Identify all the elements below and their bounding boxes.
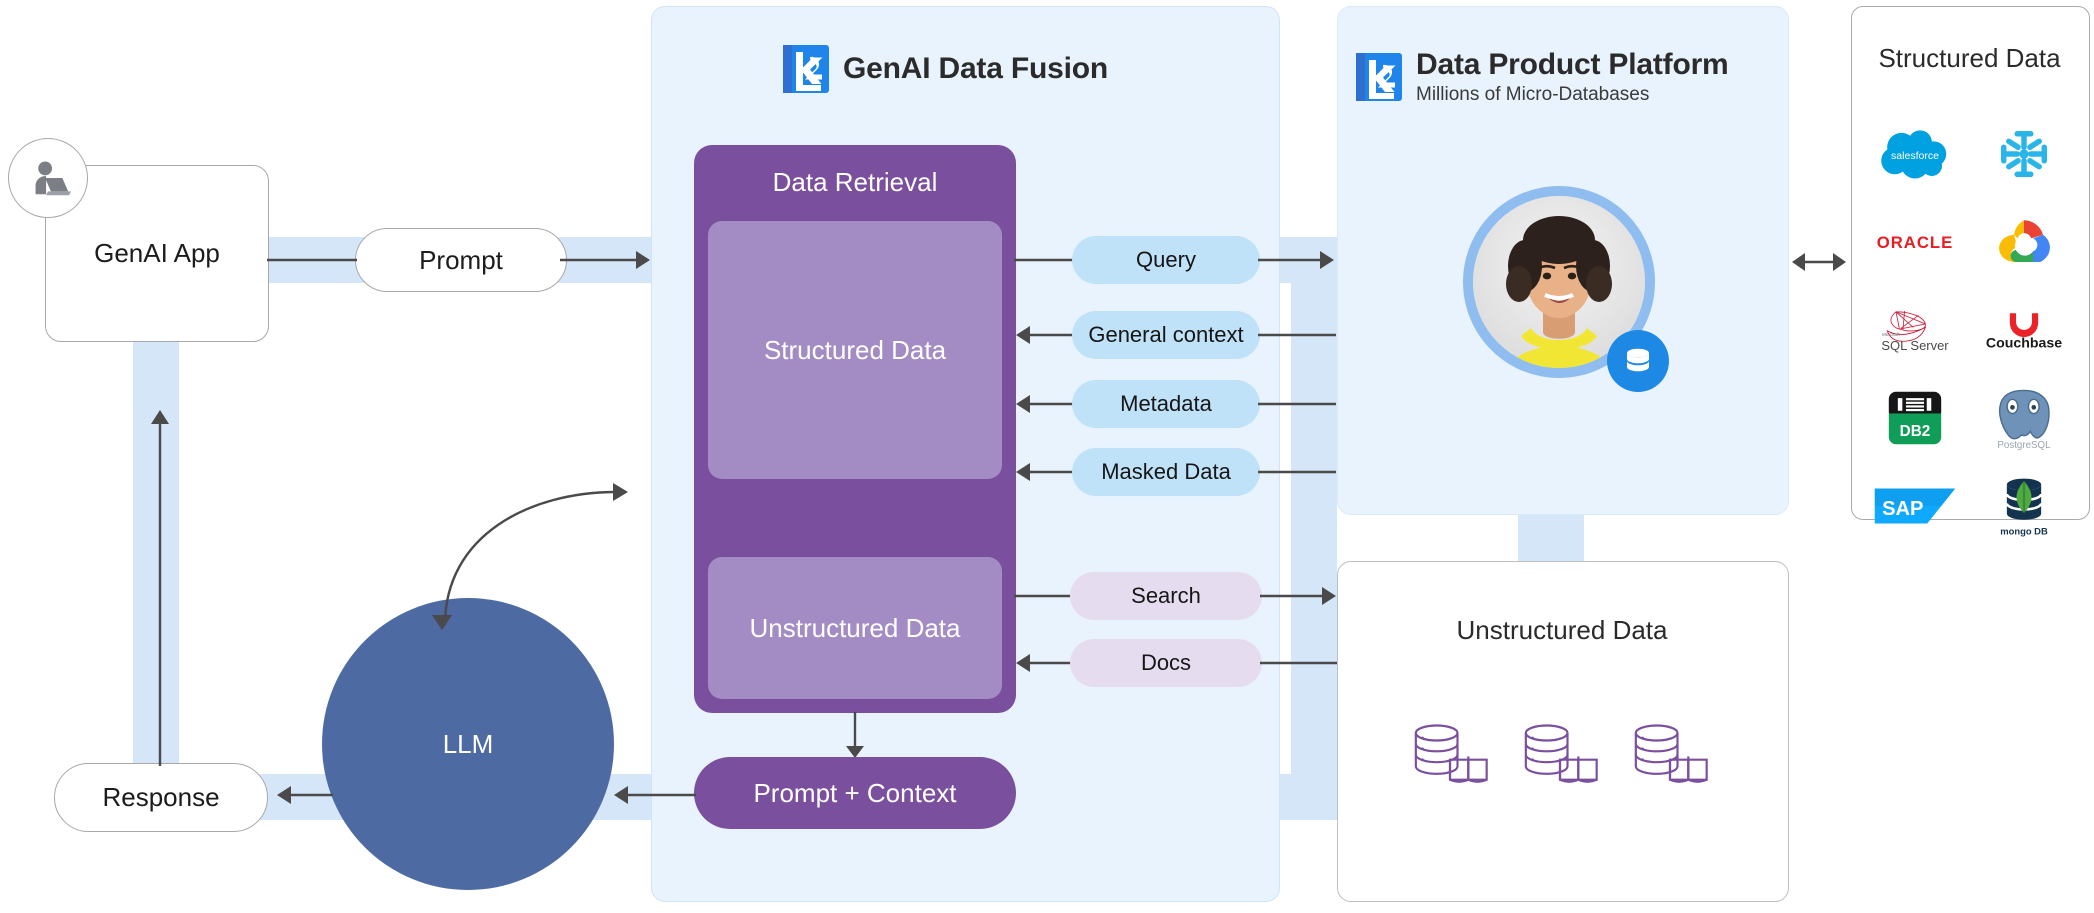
structured-logo-grid: salesforce ORACLE <box>1861 110 2078 550</box>
database-badge-icon <box>1607 330 1669 392</box>
logo-ibm-db2: DB2 <box>1861 374 1970 462</box>
arrow-llm-to-response <box>275 782 333 808</box>
pill-search: Search <box>1070 572 1262 620</box>
logo-couchbase: Couchbase <box>1970 286 2079 374</box>
logo-snowflake <box>1970 110 2079 198</box>
logo-oracle: ORACLE <box>1861 198 1970 286</box>
arrow-platform-structured-bidirectional <box>1790 248 1848 276</box>
pill-docs: Docs <box>1070 639 1262 687</box>
logo-sap: SAP <box>1861 462 1970 550</box>
user-laptop-avatar <box>8 138 88 218</box>
arrow-response-to-genai-app <box>147 410 173 766</box>
arrow-llm-retrieval-curved <box>420 440 650 630</box>
structured-panel-title: Structured Data <box>1851 43 2088 74</box>
arrow-prompt-to-fusion <box>560 247 652 273</box>
response-node: Response <box>54 763 268 832</box>
structured-data-subblock: Structured Data <box>708 221 1002 479</box>
postgresql-icon: PostgreSQL <box>1984 385 2064 451</box>
unstructured-panel-title: Unstructured Data <box>1337 615 1787 646</box>
data-retrieval-block: Data Retrieval Structured Data Unstructu… <box>694 145 1016 713</box>
arrow-query-to-platform <box>1258 247 1336 273</box>
connector-masked-data-platform <box>1258 465 1336 479</box>
database-book-icon <box>1630 719 1710 787</box>
logo-sql-server: Microsoft SQL Server <box>1861 286 1970 374</box>
svg-text:SAP: SAP <box>1882 498 1923 520</box>
couchbase-icon: Couchbase <box>1978 307 2070 353</box>
arrow-prompt-context-to-llm <box>612 782 696 808</box>
mongodb-icon: mongo DB <box>1994 474 2054 538</box>
svg-text:DB2: DB2 <box>1900 423 1931 440</box>
k2-logo-icon <box>783 45 829 93</box>
snowflake-icon <box>1997 127 2051 181</box>
svg-text:PostgreSQL: PostgreSQL <box>1997 440 2051 451</box>
llm-node: LLM <box>322 598 614 890</box>
sql-server-icon: Microsoft SQL Server <box>1870 306 1960 354</box>
platform-title: Data Product Platform <box>1416 48 1729 82</box>
sap-icon: SAP <box>1873 486 1957 526</box>
data-retrieval-title: Data Retrieval <box>694 167 1016 198</box>
diagram-canvas: GenAI Data Fusion Data Retrieval Structu… <box>0 0 2094 913</box>
oracle-icon: ORACLE <box>1869 230 1961 254</box>
prompt-plus-context-node: Prompt + Context <box>694 757 1016 829</box>
arrow-retrieval-to-prompt-context <box>840 712 870 760</box>
ibm-db2-icon: DB2 <box>1887 390 1943 446</box>
salesforce-icon: salesforce <box>1876 127 1954 181</box>
pill-masked-data: Masked Data <box>1072 448 1260 496</box>
connector-metadata-platform <box>1258 397 1336 411</box>
connector-docs-unstructured <box>1260 656 1338 670</box>
fusion-title: GenAI Data Fusion <box>843 52 1108 86</box>
arrow-search-to-unstructured <box>1260 583 1338 609</box>
connector-general-context-platform <box>1258 328 1336 342</box>
svg-text:ORACLE: ORACLE <box>1877 233 1954 252</box>
unstructured-data-subblock: Unstructured Data <box>708 557 1002 699</box>
k2-logo-icon-platform <box>1356 53 1402 101</box>
logo-postgresql: PostgreSQL <box>1970 374 2079 462</box>
fusion-header: GenAI Data Fusion <box>783 45 1108 93</box>
pill-query: Query <box>1072 236 1260 284</box>
pill-metadata: Metadata <box>1072 380 1260 428</box>
svg-text:Couchbase: Couchbase <box>1986 335 2062 351</box>
svg-text:Microsoft: Microsoft <box>1882 332 1900 337</box>
user-laptop-icon <box>25 155 71 201</box>
svg-text:salesforce: salesforce <box>1891 150 1939 162</box>
database-book-icon <box>1520 719 1600 787</box>
platform-header: Data Product Platform Millions of Micro-… <box>1356 48 1729 106</box>
svg-text:mongo DB: mongo DB <box>2000 525 2048 536</box>
flow-band-right-vertical <box>1291 237 1337 820</box>
platform-subtitle: Millions of Micro-Databases <box>1416 84 1729 106</box>
svg-text:SQL Server: SQL Server <box>1882 338 1950 353</box>
logo-google-cloud <box>1970 198 2079 286</box>
logo-salesforce: salesforce <box>1861 110 1970 198</box>
connector-genai-app-prompt <box>267 253 357 267</box>
prompt-node: Prompt <box>355 228 567 292</box>
google-cloud-icon <box>1995 217 2053 267</box>
unstructured-icon-row <box>1410 710 1710 796</box>
pill-general-context: General context <box>1072 311 1260 359</box>
logo-mongodb: mongo DB <box>1970 462 2079 550</box>
database-book-icon <box>1410 719 1490 787</box>
